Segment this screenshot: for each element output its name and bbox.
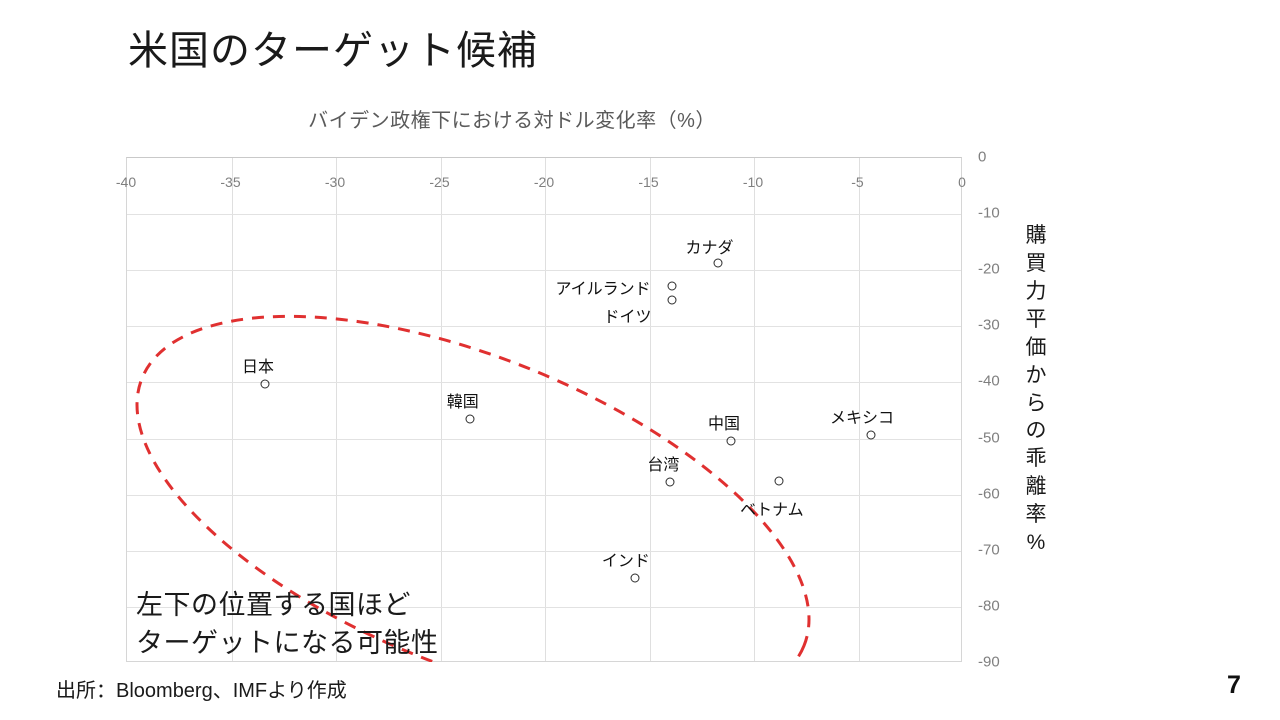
y-axis-title-char: 率 xyxy=(1019,501,1053,529)
y-axis-tick-label: -70 xyxy=(978,541,1000,558)
y-axis-tick-label: -50 xyxy=(978,429,1000,446)
y-axis-tick-label: -80 xyxy=(978,597,1000,614)
y-axis-title-char: 買 xyxy=(1019,250,1053,278)
y-axis-title-char: の xyxy=(1019,417,1053,445)
scatter-point-台湾[interactable] xyxy=(666,477,675,486)
scatter-point-インド[interactable] xyxy=(630,574,639,583)
scatter-label-台湾: 台湾 xyxy=(647,451,679,475)
y-axis-title-char: 乖 xyxy=(1019,445,1053,473)
gridline-horizontal xyxy=(127,495,961,496)
scatter-point-日本[interactable] xyxy=(260,380,269,389)
chart-annotation-text: 左下の位置する国ほど ターゲットになる可能性 xyxy=(136,586,439,663)
scatter-label-ドイツ: ドイツ xyxy=(603,303,651,327)
slide-canvas: 米国のターゲット候補 バイデン政権下における対ドル変化率（%） -40-35-3… xyxy=(0,0,1280,720)
gridline-horizontal xyxy=(127,214,961,215)
y-axis-tick-label: -60 xyxy=(978,485,1000,502)
x-axis-tick-label: -30 xyxy=(325,174,345,190)
scatter-label-メキシコ: メキシコ xyxy=(830,404,894,428)
gridline-horizontal xyxy=(127,270,961,271)
scatter-label-インド: インド xyxy=(602,547,650,571)
x-axis-tick-label: -10 xyxy=(743,174,763,190)
scatter-point-アイルランド[interactable] xyxy=(668,281,677,290)
chart-title: バイデン政権下における対ドル変化率（%） xyxy=(0,104,1024,133)
y-axis-tick-label: 0 xyxy=(978,149,986,166)
scatter-label-アイルランド: アイルランド xyxy=(555,275,650,299)
scatter-point-ドイツ[interactable] xyxy=(668,295,677,304)
scatter-point-中国[interactable] xyxy=(727,437,736,446)
gridline-horizontal xyxy=(127,326,961,327)
page-title: 米国のターゲット候補 xyxy=(128,28,538,74)
x-axis-tick-label: -15 xyxy=(638,174,658,190)
scatter-label-ベトナム: ベトナム xyxy=(740,496,804,520)
scatter-point-メキシコ[interactable] xyxy=(867,430,876,439)
x-axis-tick-label: -20 xyxy=(534,174,554,190)
scatter-label-カナダ: カナダ xyxy=(685,234,733,258)
y-axis-tick-label: -30 xyxy=(978,317,1000,334)
gridline-vertical xyxy=(545,158,546,661)
y-axis-tick-label: -40 xyxy=(978,373,1000,390)
x-axis-tick-label: -35 xyxy=(220,174,240,190)
x-axis-tick-label: -5 xyxy=(851,174,863,190)
scatter-label-日本: 日本 xyxy=(242,353,274,377)
gridline-vertical xyxy=(650,158,651,661)
y-axis-title-char: 購 xyxy=(1019,222,1053,250)
scatter-label-韓国: 韓国 xyxy=(447,388,479,412)
scatter-point-韓国[interactable] xyxy=(465,415,474,424)
y-axis-title-char: ら xyxy=(1019,390,1053,418)
x-axis-tick-label: 0 xyxy=(958,174,966,190)
y-axis-tick-label: -20 xyxy=(978,261,1000,278)
y-axis-title-char: 価 xyxy=(1019,334,1053,362)
source-note: 出所：Bloomberg、IMFより作成 xyxy=(56,674,347,703)
gridline-horizontal xyxy=(127,382,961,383)
y-axis-title-char: 平 xyxy=(1019,306,1053,334)
y-axis-title-char: 離 xyxy=(1019,473,1053,501)
page-number: 7 xyxy=(1227,671,1241,700)
y-axis-title-char: % xyxy=(1019,529,1053,557)
y-axis-title-char: か xyxy=(1019,362,1053,390)
x-axis-tick-label: -25 xyxy=(429,174,449,190)
y-axis-tick-label: -10 xyxy=(978,205,1000,222)
gridline-horizontal xyxy=(127,439,961,440)
y-axis-title: 購買力平価からの乖離率% xyxy=(1019,222,1053,557)
gridline-vertical xyxy=(754,158,755,661)
gridline-vertical xyxy=(441,158,442,661)
scatter-label-中国: 中国 xyxy=(708,410,740,434)
gridline-horizontal xyxy=(127,551,961,552)
y-axis-tick-label: -90 xyxy=(978,654,1000,671)
scatter-point-カナダ[interactable] xyxy=(714,258,723,267)
x-axis-tick-label: -40 xyxy=(116,174,136,190)
scatter-point-ベトナム[interactable] xyxy=(775,476,784,485)
y-axis-title-char: 力 xyxy=(1019,278,1053,306)
